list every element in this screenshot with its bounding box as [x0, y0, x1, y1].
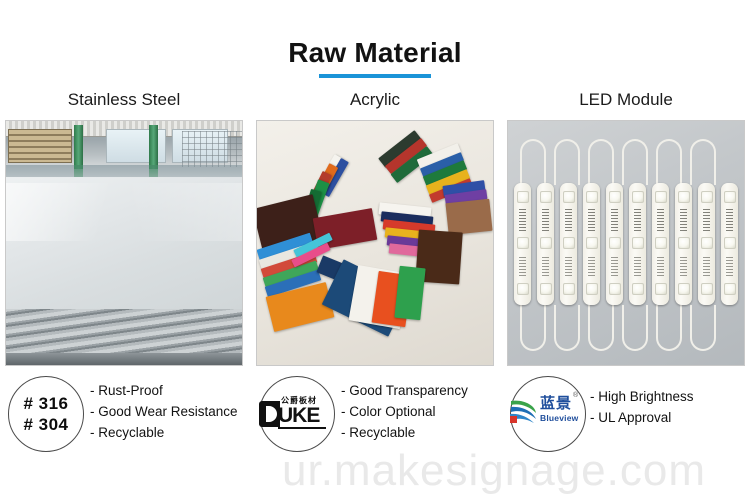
registered-mark-icon: ® [573, 392, 578, 399]
grade-badge: # 316 # 304 [8, 376, 84, 452]
photo-led-module [507, 120, 745, 366]
duke-logo-icon: 公爵板材 UKE [257, 374, 333, 450]
raw-material-infographic: Raw Material Stainless Steel Acrylic LED… [0, 0, 750, 497]
blueview-logo-icon: 蓝景 ® Blueview [508, 374, 584, 450]
feature-item: - Color Optional [341, 401, 506, 422]
duke-logo-en-text: UKE [278, 404, 319, 427]
photo-acrylic [256, 120, 494, 366]
page-title-block: Raw Material [0, 36, 750, 78]
feature-item: - Recyclable [90, 422, 255, 443]
blueview-logo-en-text: Blueview [540, 413, 578, 423]
title-underline [319, 74, 431, 78]
page-title: Raw Material [0, 36, 750, 70]
feature-block-led-module: 蓝景 ® Blueview - High Brightness - UL App… [508, 374, 748, 454]
blueview-logo-cn-text: 蓝景 [540, 395, 572, 412]
acrylic-photo-art [257, 121, 493, 365]
photo-stainless-steel [5, 120, 243, 366]
duke-d-mark [259, 401, 280, 427]
site-watermark: ur.makesignage.com [282, 447, 706, 495]
blueview-swoosh-icon [509, 397, 539, 425]
stainless-steel-photo-art [6, 121, 242, 365]
grade-badge-line-1: # 316 [23, 393, 68, 414]
feature-item: - High Brightness [590, 386, 750, 407]
feature-block-acrylic: 公爵板材 UKE - Good Transparency - Color Opt… [257, 374, 502, 454]
column-heading-stainless-steel: Stainless Steel [5, 88, 243, 112]
feature-list-led-module: - High Brightness - UL Approval [590, 386, 750, 428]
feature-list-stainless-steel: - Rust-Proof - Good Wear Resistance - Re… [90, 380, 255, 443]
duke-underbar [278, 427, 326, 429]
feature-block-stainless-steel: # 316 # 304 - Rust-Proof - Good Wear Res… [6, 374, 251, 454]
feature-item: - Good Transparency [341, 380, 506, 401]
feature-list-acrylic: - Good Transparency - Color Optional - R… [341, 380, 506, 443]
feature-item: - Recyclable [341, 422, 506, 443]
grade-badge-line-2: # 304 [23, 414, 68, 435]
feature-item: - Rust-Proof [90, 380, 255, 401]
column-headings: Stainless Steel Acrylic LED Module [0, 88, 750, 114]
led-module-photo-art [508, 121, 744, 365]
column-heading-led-module: LED Module [507, 88, 745, 112]
feature-item: - UL Approval [590, 407, 750, 428]
column-heading-acrylic: Acrylic [256, 88, 494, 112]
feature-item: - Good Wear Resistance [90, 401, 255, 422]
